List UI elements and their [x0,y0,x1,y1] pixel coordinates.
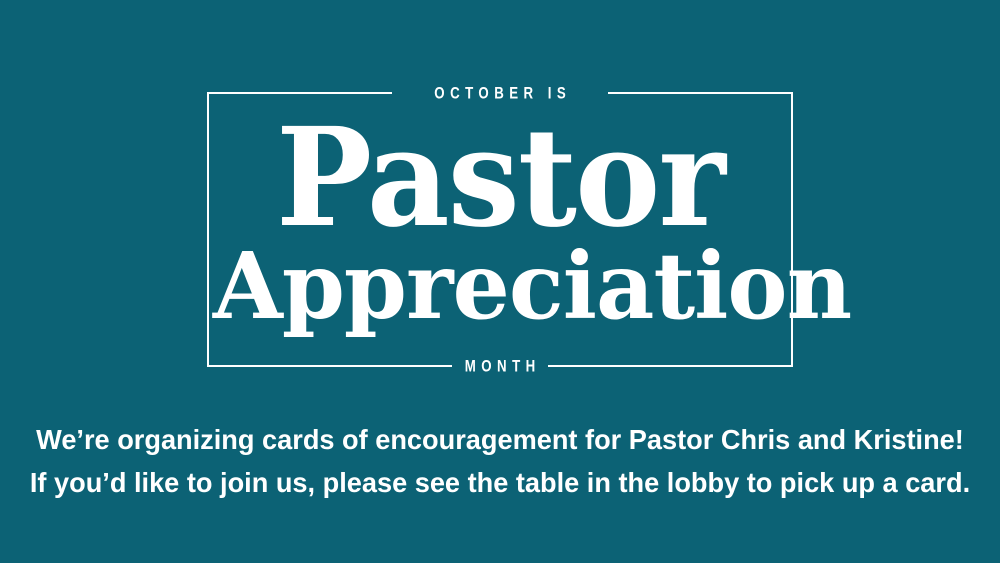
title-lockup: OCTOBER IS Pastor Appreciation MONTH [207,92,793,367]
footer-label: MONTH [459,358,540,375]
headline-primary: Pastor [225,110,776,246]
frame-border-left [207,92,209,367]
pastor-appreciation-slide: OCTOBER IS Pastor Appreciation MONTH We’… [0,0,1000,563]
body-copy-line-1: We’re organizing cards of encouragement … [15,418,985,461]
frame-border-top-left [207,92,392,94]
body-copy: We’re organizing cards of encouragement … [0,418,1000,504]
body-copy-line-2: If you’d like to join us, please see the… [15,461,985,504]
frame-border-top-right [608,92,793,94]
frame-border-bottom-left [207,365,452,367]
frame-border-bottom-right [548,365,793,367]
headline-secondary: Appreciation [213,240,787,332]
